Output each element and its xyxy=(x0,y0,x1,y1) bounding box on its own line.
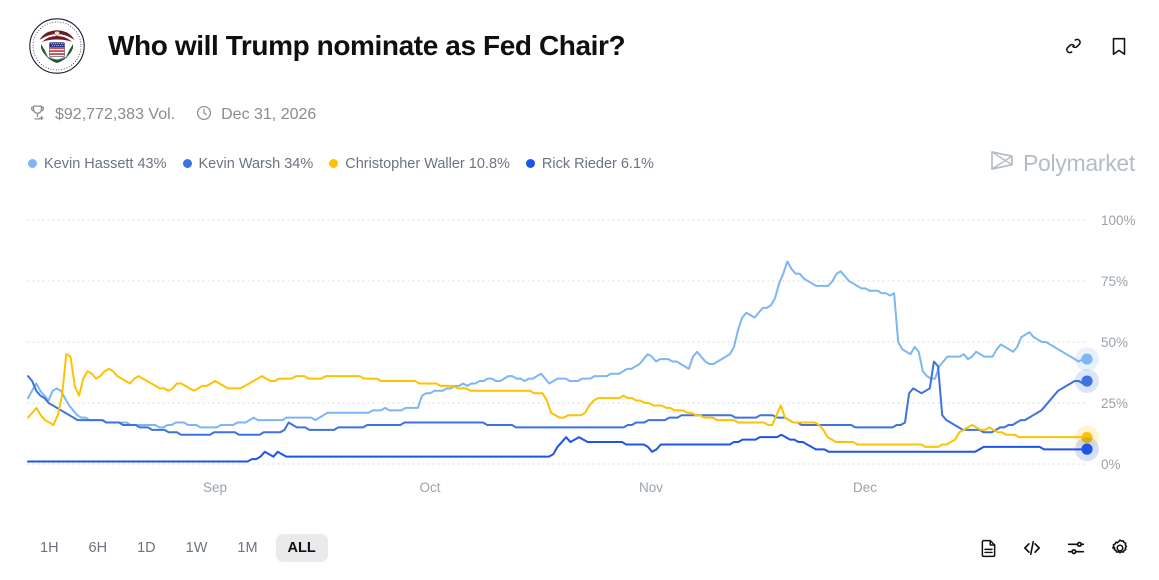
range-button-6h[interactable]: 6H xyxy=(77,534,120,562)
series-endpoint-dot-kevin-hassett xyxy=(1081,353,1092,364)
chart-footer: 1H6H1D1W1MALL xyxy=(0,516,1159,580)
legend-item-label: Rick Rieder 6.1% xyxy=(542,156,654,172)
end-date-text: Dec 31, 2026 xyxy=(221,106,316,124)
price-history-chart[interactable]: 0%25%50%75%100%SepOctNovDec xyxy=(0,196,1159,496)
series-endpoint-dot-rick-rieder xyxy=(1081,444,1092,455)
polymarket-logo-icon xyxy=(990,150,1014,177)
chart-legend: Kevin Hassett 43%Kevin Warsh 34%Christop… xyxy=(28,150,1135,177)
y-axis-tick-label: 50% xyxy=(1101,335,1128,350)
legend-color-dot xyxy=(28,159,37,168)
bookmark-icon[interactable] xyxy=(1107,34,1131,58)
legend-color-dot xyxy=(329,159,338,168)
range-button-1m[interactable]: 1M xyxy=(225,534,269,562)
market-header: Who will Trump nominate as Fed Chair? xyxy=(0,0,1159,92)
series-endpoint-dot-kevin-warsh xyxy=(1081,375,1092,386)
time-range-selector[interactable]: 1H6H1D1W1MALL xyxy=(28,534,328,562)
range-button-1h[interactable]: 1H xyxy=(28,534,71,562)
trophy-plus-icon xyxy=(28,103,47,127)
clock-icon xyxy=(195,104,213,127)
legend-item-kevin-warsh[interactable]: Kevin Warsh 34% xyxy=(183,156,314,172)
copy-link-icon[interactable] xyxy=(1061,34,1085,58)
series-line-rick-rieder xyxy=(28,435,1087,462)
x-axis-tick-label: Nov xyxy=(639,480,663,495)
y-axis-tick-label: 25% xyxy=(1101,396,1128,411)
volume-text: $92,772,383 Vol. xyxy=(55,106,175,124)
header-actions xyxy=(1061,34,1131,58)
rules-document-icon[interactable] xyxy=(977,537,999,559)
volume-block: $92,772,383 Vol. xyxy=(28,103,175,127)
legend-item-rick-rieder[interactable]: Rick Rieder 6.1% xyxy=(526,156,654,172)
embed-code-icon[interactable] xyxy=(1021,537,1043,559)
chart-tool-icons xyxy=(977,537,1131,559)
legend-item-kevin-hassett[interactable]: Kevin Hassett 43% xyxy=(28,156,167,172)
market-meta: $92,772,383 Vol. Dec 31, 2026 xyxy=(28,103,316,127)
legend-item-label: Kevin Warsh 34% xyxy=(199,156,314,172)
end-date-block: Dec 31, 2026 xyxy=(195,104,316,127)
legend-item-label: Christopher Waller 10.8% xyxy=(345,156,510,172)
legend-color-dot xyxy=(183,159,192,168)
x-axis-tick-label: Dec xyxy=(853,480,877,495)
legend-item-christopher-waller[interactable]: Christopher Waller 10.8% xyxy=(329,156,510,172)
x-axis-tick-label: Sep xyxy=(203,480,227,495)
legend-items: Kevin Hassett 43%Kevin Warsh 34%Christop… xyxy=(28,156,654,172)
series-line-christopher-waller xyxy=(28,354,1087,447)
legend-color-dot xyxy=(526,159,535,168)
legend-item-label: Kevin Hassett 43% xyxy=(44,156,167,172)
chart-settings-sliders-icon[interactable] xyxy=(1065,537,1087,559)
y-axis-tick-label: 0% xyxy=(1101,457,1121,472)
x-axis-tick-label: Oct xyxy=(419,480,440,495)
federal-reserve-seal-icon xyxy=(28,17,86,75)
polymarket-wordmark: Polymarket xyxy=(1023,150,1135,177)
market-chart-page: Who will Trump nominate as Fed Chair? xyxy=(0,0,1159,580)
y-axis-tick-label: 75% xyxy=(1101,274,1128,289)
polymarket-brand: Polymarket xyxy=(990,150,1135,177)
range-button-all[interactable]: ALL xyxy=(276,534,328,562)
settings-gear-icon[interactable] xyxy=(1109,537,1131,559)
range-button-1d[interactable]: 1D xyxy=(125,534,168,562)
page-title: Who will Trump nominate as Fed Chair? xyxy=(108,30,625,62)
range-button-1w[interactable]: 1W xyxy=(174,534,220,562)
y-axis-tick-label: 100% xyxy=(1101,213,1136,228)
